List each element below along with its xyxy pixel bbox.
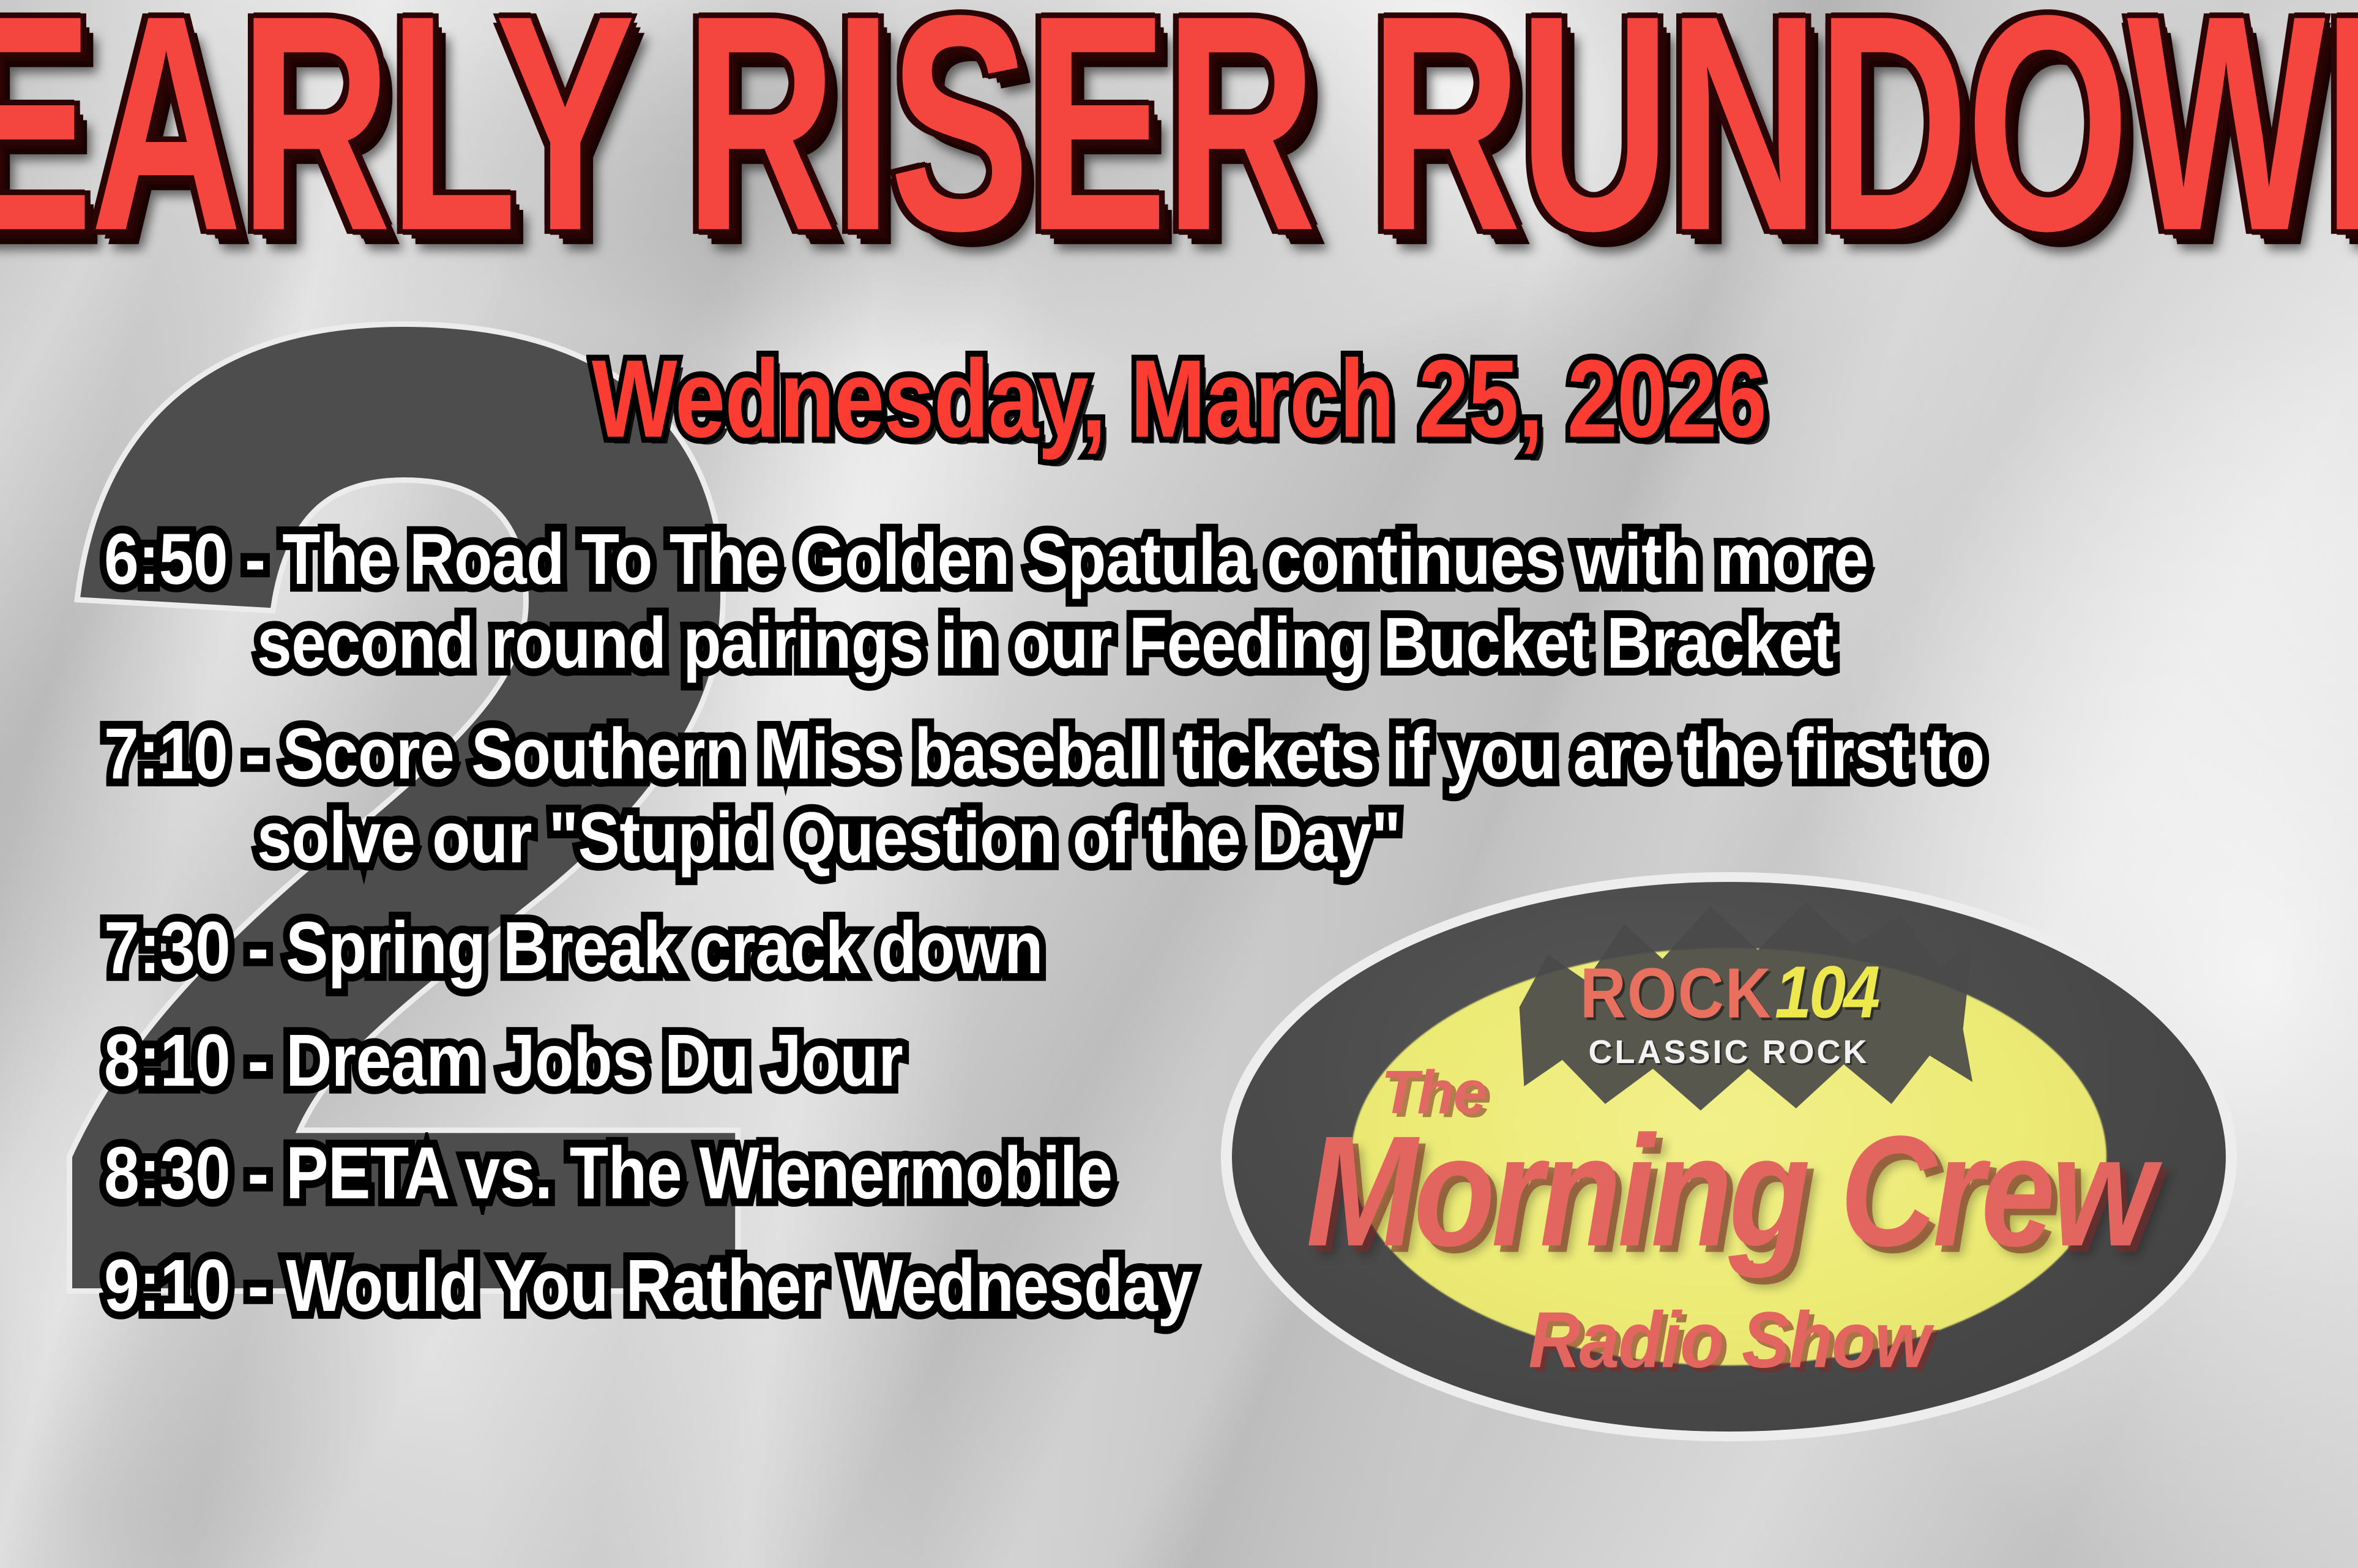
logo-show-type: Radio Show — [1232, 1294, 2226, 1386]
rundown-poster: 2 EARLY RISER RUNDOWN Wednesday, March 2… — [0, 0, 2358, 1568]
logo-station-name: ROCK104 — [1232, 949, 2226, 1034]
logo-frequency: 104 — [1775, 950, 1878, 1033]
schedule-line-secondary: second round pairings in our Feeding Buc… — [104, 601, 2258, 685]
logo-show-name: Morning Crew — [1232, 1102, 2226, 1282]
logo-disc: ROCK104 CLASSIC ROCK The Morning Crew Ra… — [1232, 882, 2226, 1432]
schedule-line-primary: 6:50 - The Road To The Golden Spatula co… — [104, 517, 2258, 601]
schedule-line-primary: 7:10 - Score Southern Miss baseball tick… — [104, 712, 2258, 796]
list-item: 6:50 - The Road To The Golden Spatula co… — [104, 517, 2258, 685]
schedule-line-secondary: solve our "Stupid Question of the Day" — [104, 796, 2258, 879]
page-title: EARLY RISER RUNDOWN — [0, 0, 2358, 263]
list-item: 7:10 - Score Southern Miss baseball tick… — [104, 712, 2258, 879]
morning-crew-logo: ROCK104 CLASSIC ROCK The Morning Crew Ra… — [1221, 872, 2237, 1441]
date-heading: Wednesday, March 25, 2026 — [0, 340, 2358, 459]
logo-station-word: ROCK — [1580, 954, 1772, 1033]
